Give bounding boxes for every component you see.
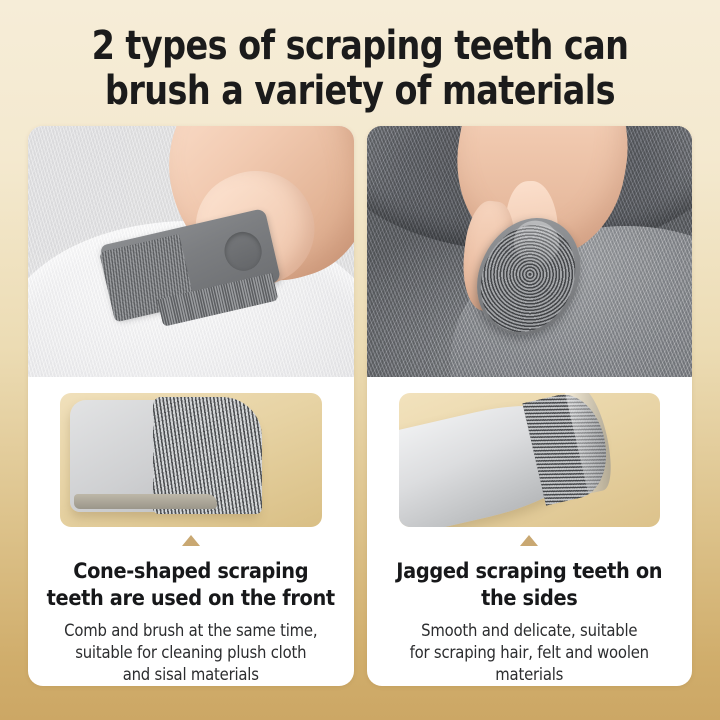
page-title: 2 types of scraping teeth can brush a va… (25, 24, 695, 114)
caption-body-line-3: materials (383, 664, 677, 686)
caption-body-line-2: suitable for cleaning plush cloth (44, 642, 338, 664)
caption-body-line-2: for scraping hair, felt and woolen (383, 642, 677, 664)
detail-jagged-teeth (399, 393, 661, 527)
caption-title: Cone-shaped scraping teeth are used on t… (44, 559, 338, 612)
caption-title-line-2: teeth are used on the front (44, 586, 338, 613)
detail-image-slot (28, 377, 354, 535)
pointer-up-left (28, 535, 354, 553)
pointer-up-right (367, 535, 693, 553)
feature-card-front: Cone-shaped scraping teeth are used on t… (28, 126, 354, 686)
caption-body-line-1: Comb and brush at the same time, (44, 620, 338, 642)
caption-title-line-2: the sides (383, 586, 677, 613)
photo-hand-brushing-plush (28, 126, 354, 377)
caption-title-line-1: Jagged scraping teeth on (383, 559, 677, 586)
caption-body: Smooth and delicate, suitable for scrapi… (383, 620, 677, 685)
feature-card-group: Cone-shaped scraping teeth are used on t… (28, 126, 692, 686)
headline-line-1: 2 types of scraping teeth can (25, 24, 695, 69)
caption-body-line-3: and sisal materials (44, 664, 338, 686)
triangle-up-icon (520, 535, 538, 546)
brush-blade (399, 393, 612, 527)
caption-title: Jagged scraping teeth on the sides (383, 559, 677, 612)
brush-pad (70, 400, 258, 513)
photo-hand-scraping-felt (367, 126, 693, 377)
triangle-up-icon (182, 535, 200, 546)
caption-body-line-1: Smooth and delicate, suitable (383, 620, 677, 642)
caption-title-line-1: Cone-shaped scraping (44, 559, 338, 586)
caption-sides: Jagged scraping teeth on the sides Smoot… (367, 553, 693, 686)
detail-image-slot (367, 377, 693, 535)
feature-card-sides: Jagged scraping teeth on the sides Smoot… (367, 126, 693, 686)
caption-front: Cone-shaped scraping teeth are used on t… (28, 553, 354, 686)
detail-cone-teeth (60, 393, 322, 527)
caption-body: Comb and brush at the same time, suitabl… (44, 620, 338, 685)
headline-line-2: brush a variety of materials (25, 69, 695, 114)
brush-pad-base (74, 494, 217, 509)
